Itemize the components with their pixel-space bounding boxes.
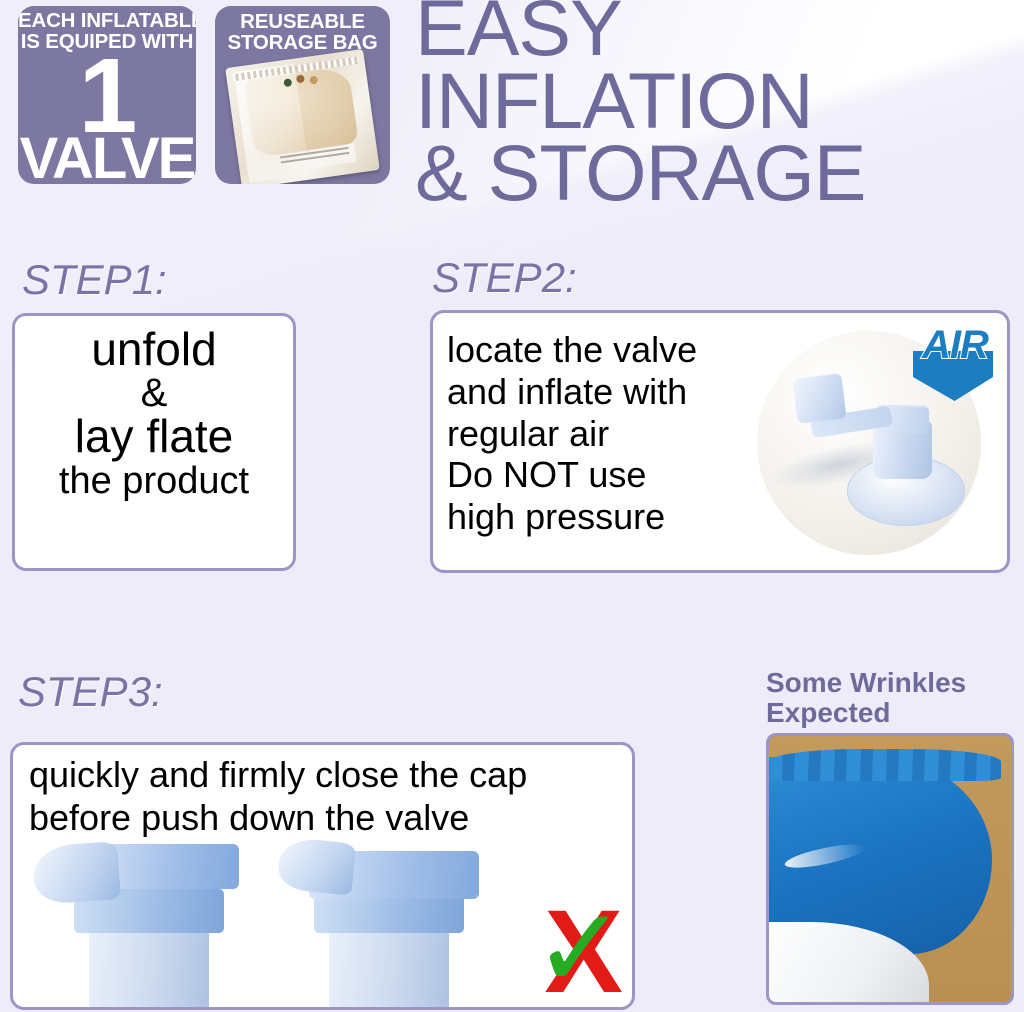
step2-line-2: and inflate with: [447, 371, 747, 413]
page-title: EASY INFLATION & STORAGE: [415, 0, 1024, 210]
valve-cap: [793, 373, 847, 423]
step3-text: quickly and firmly close the cap before …: [29, 753, 624, 839]
step1-line-1: unfold: [15, 326, 293, 373]
step2-box: locate the valve and inflate with regula…: [430, 310, 1010, 573]
badge-storage-caption-line2: STORAGE BAG: [215, 33, 390, 54]
step2-line-3: regular air: [447, 413, 747, 455]
infographic-page: EACH INFLATABLE IS EQUIPED WITH 1 VALVE …: [0, 0, 1024, 1012]
wrinkles-title: Some Wrinkles Expected: [766, 668, 1018, 728]
badge-storage-caption-line1: REUSEABLE: [215, 12, 390, 33]
step2-line-5: high pressure: [447, 496, 747, 538]
air-badge-label: AIR: [915, 323, 995, 368]
cap-good-bottle: [329, 926, 449, 1009]
step2-line-4: Do NOT use: [447, 454, 747, 496]
cap-good-lever: [277, 837, 357, 896]
page-title-line2: & STORAGE: [415, 137, 1024, 210]
step1-line-4: the product: [15, 462, 293, 502]
step2-text: locate the valve and inflate with regula…: [447, 329, 747, 538]
badge-valve-caption-line1: EACH INFLATABLE: [18, 11, 196, 32]
valve-cap-correct-photo: [269, 837, 519, 1009]
wrinkles-ripple-edge: [769, 749, 1001, 781]
storage-bag-photo: [225, 49, 380, 184]
step3-box: quickly and firmly close the cap before …: [10, 742, 635, 1010]
step1-line-2: &: [15, 373, 293, 413]
step2-line-1: locate the valve: [447, 329, 747, 371]
cap-bad-bottle: [89, 926, 209, 1009]
badge-storage-caption: REUSEABLE STORAGE BAG: [215, 6, 390, 54]
badge-storage-bag: REUSEABLE STORAGE BAG: [215, 6, 390, 184]
step3-photos: X ✓: [19, 837, 631, 1009]
badge-valve-word: VALVE: [18, 136, 196, 181]
step2-label: STEP2:: [432, 254, 577, 302]
cap-bad-lever: [32, 841, 121, 905]
badge-one-valve: EACH INFLATABLE IS EQUIPED WITH 1 VALVE: [18, 6, 196, 184]
step3-line-1: quickly and firmly close the cap: [29, 753, 624, 796]
step1-line-3: lay flate: [15, 413, 293, 460]
page-title-line1: EASY INFLATION: [415, 0, 813, 145]
step1-box: unfold & lay flate the product: [12, 313, 296, 571]
step3-label: STEP3:: [18, 668, 163, 716]
wrinkles-title-line1: Some Wrinkles: [766, 668, 1018, 698]
step1-text: unfold & lay flate the product: [15, 316, 293, 502]
check-icon: ✓: [533, 893, 627, 1005]
wrinkles-photo: [766, 733, 1014, 1005]
air-badge-icon: AIR: [913, 325, 997, 405]
valve-photo: AIR: [749, 325, 1001, 561]
step1-label: STEP1:: [22, 256, 167, 304]
wrinkles-title-line2: Expected: [766, 698, 1018, 728]
step3-line-2: before push down the valve: [29, 796, 624, 839]
valve-cap-incorrect-photo: [29, 837, 279, 1009]
